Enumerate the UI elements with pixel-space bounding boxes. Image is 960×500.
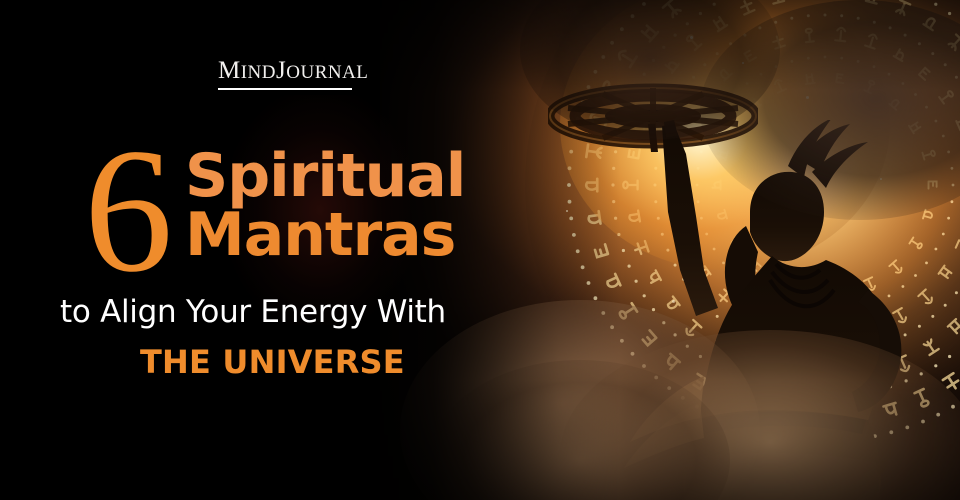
krishna-silhouette <box>600 120 930 500</box>
headline-row-primary: 6 Spiritual Mantras <box>84 128 465 287</box>
headline-kicker: THE UNIVERSE <box>140 345 405 380</box>
headline-subtitle: to Align Your Energy With <box>60 295 446 329</box>
headline-word-spiritual: Spiritual <box>185 146 465 207</box>
headline-word-stack: Spiritual Mantras <box>185 146 465 266</box>
article-banner: MINDJOURNAL 6 Spiritual Mantras to Align… <box>0 0 960 500</box>
headline-block: 6 Spiritual Mantras to Align Your Energy… <box>0 0 560 500</box>
headline-word-mantras: Mantras <box>185 205 465 266</box>
headline-number: 6 <box>84 134 173 287</box>
